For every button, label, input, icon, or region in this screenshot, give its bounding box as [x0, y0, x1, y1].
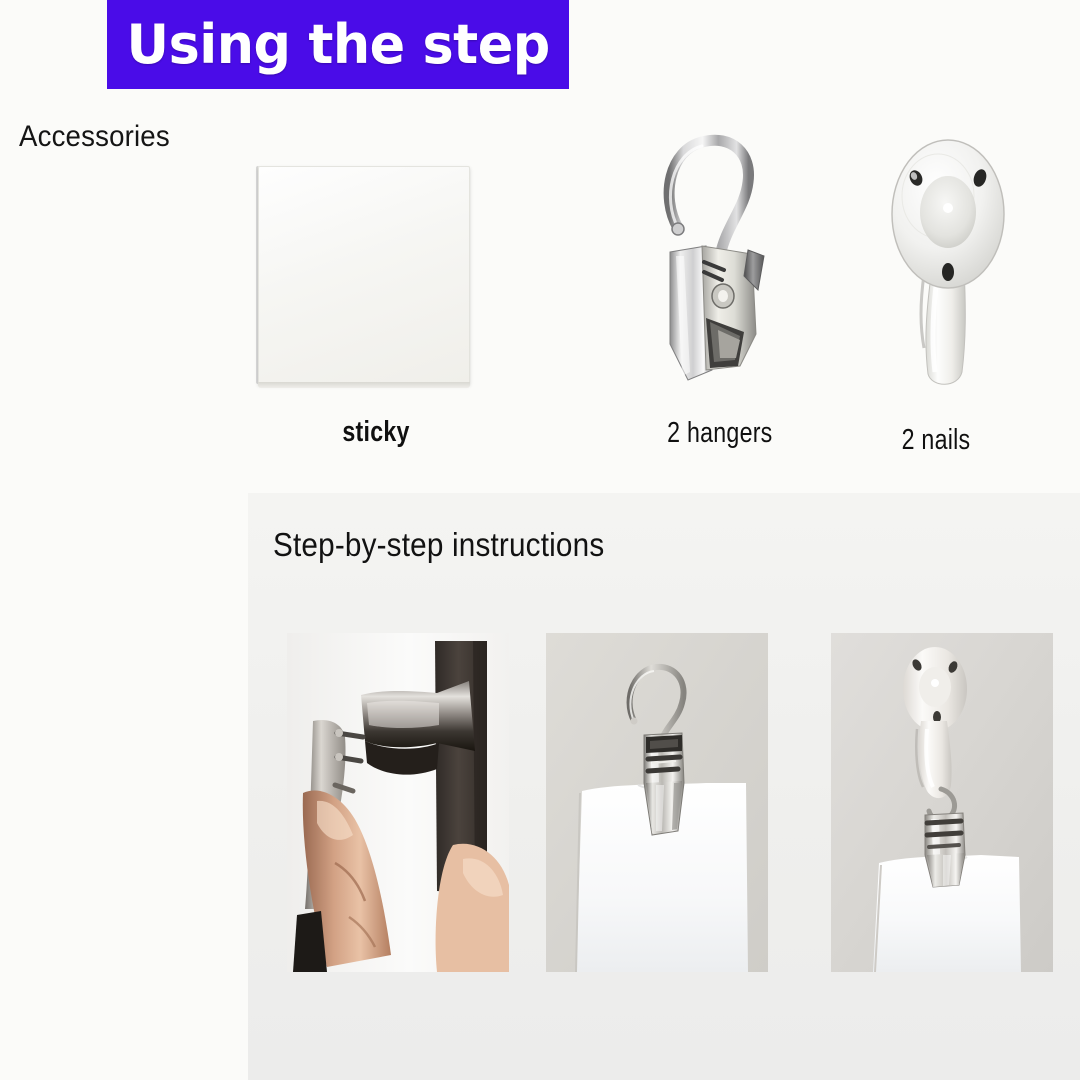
page-title: Using the step: [126, 18, 549, 72]
accessories-section-label: Accessories: [19, 120, 170, 154]
adhesive-pad-icon: [258, 166, 470, 384]
caption-sticky: sticky: [342, 416, 409, 449]
instructions-panel: Step-by-step instructions: [248, 493, 1080, 1080]
step-photo-1: [287, 633, 509, 972]
caption-nails: 2 nails: [902, 424, 971, 457]
instructions-heading: Step-by-step instructions: [273, 526, 604, 564]
metal-clip-hanger-icon: [640, 104, 800, 384]
step-photo-2: [546, 633, 768, 972]
caption-hangers: 2 hangers: [667, 417, 772, 450]
steps-row: Step1 Step2 Step3: [269, 633, 1069, 973]
white-wall-hook-icon: [880, 136, 1020, 386]
product-instruction-graphic: Using the step Accessories: [0, 0, 1080, 1080]
title-banner: Using the step: [107, 0, 569, 89]
step-photo-3: [831, 633, 1053, 972]
